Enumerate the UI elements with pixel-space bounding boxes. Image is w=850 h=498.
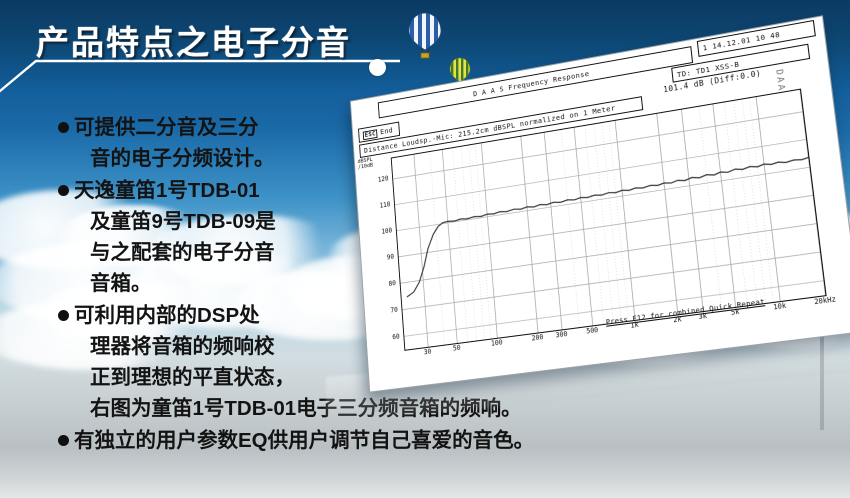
y-axis-tick-label: 100 — [381, 227, 392, 236]
daas-title-text: D A A S Frequency Response — [379, 50, 692, 114]
x-axis-tick-label: 10k — [773, 301, 787, 311]
x-axis-tick-label: 200 — [531, 333, 543, 343]
x-axis-tick-label: 20kHz — [814, 295, 837, 306]
y-axis-tick-label: 110 — [379, 201, 390, 210]
x-axis-tick-label: 30 — [424, 347, 432, 356]
y-axis-tick-label: 80 — [388, 279, 396, 288]
daas-titlebar: D A A S Frequency Response — [378, 46, 693, 118]
bullet-dot-icon — [58, 310, 69, 321]
bullet-line: 有独立的用户参数EQ供用户调节自己喜爱的音色。 — [74, 425, 618, 456]
y-axis-tick-label: 60 — [392, 332, 400, 341]
y-axis-tick-label: 120 — [378, 175, 389, 184]
x-axis-tick-label: 50 — [453, 344, 461, 353]
x-axis-tick-label: 300 — [555, 330, 567, 340]
page-title: 产品特点之电子分音 — [36, 16, 351, 64]
feature-bullet-item: 有独立的用户参数EQ供用户调节自己喜爱的音色。 — [58, 425, 618, 456]
x-axis-tick-label: 100 — [491, 338, 503, 348]
y-axis-tick-label: 90 — [387, 253, 395, 262]
bullet-dot-icon — [58, 185, 69, 196]
bullet-dot-icon — [58, 122, 69, 133]
feature-bullet-text: 有独立的用户参数EQ供用户调节自己喜爱的音色。 — [74, 425, 618, 456]
esc-key-label: End — [380, 125, 393, 136]
bullet-dot-icon — [58, 435, 69, 446]
x-axis-tick-label: 500 — [586, 326, 599, 336]
esc-key-cap: ESC — [363, 129, 378, 140]
y-axis-tick-label: 70 — [390, 305, 398, 314]
daas-screenshot-container: D A A S Frequency Response 1 14.12.01 10… — [330, 50, 850, 400]
daas-window[interactable]: D A A S Frequency Response 1 14.12.01 10… — [350, 15, 850, 392]
